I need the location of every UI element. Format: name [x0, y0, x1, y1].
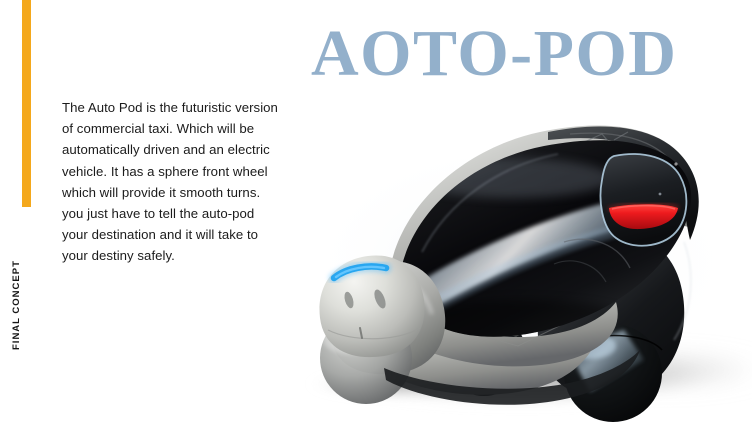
page-title: AOTO-POD: [311, 21, 731, 87]
body-paragraph: The Auto Pod is the futuristic version o…: [62, 97, 278, 267]
accent-bar: [22, 0, 31, 207]
vehicle-illustration: [272, 92, 752, 423]
section-label-wrapper: FINAL CONCEPT: [22, 240, 38, 350]
rear-taillight: [601, 154, 687, 246]
slide-canvas: FINAL CONCEPT The Auto Pod is the futuri…: [0, 0, 752, 423]
spec-dot: [674, 162, 677, 165]
section-label: FINAL CONCEPT: [11, 260, 22, 350]
